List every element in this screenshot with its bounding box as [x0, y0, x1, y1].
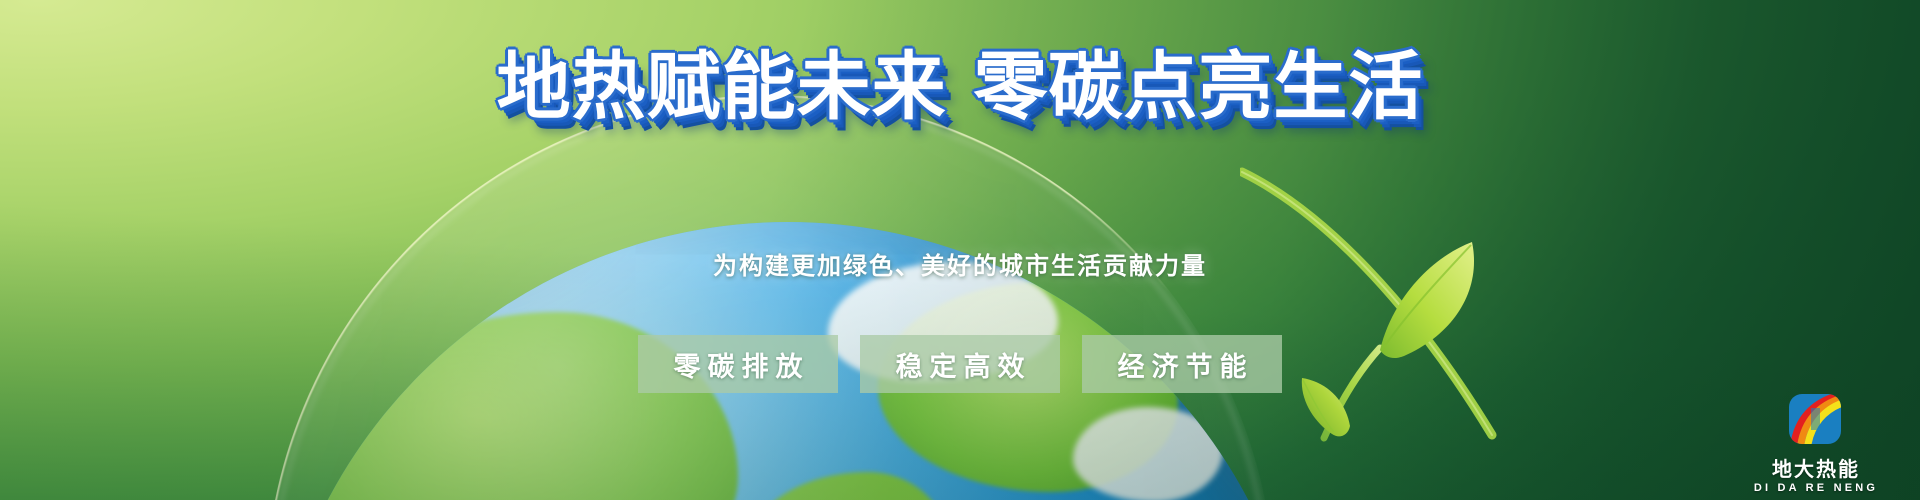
feature-tag-list: 零碳排放 稳定高效 经济节能: [0, 335, 1920, 393]
banner-content: 地热赋能未来 零碳点亮生活 为构建更加绿色、美好的城市生活贡献力量 零碳排放 稳…: [0, 0, 1920, 500]
company-logo[interactable]: 地大热能 DI DA RE NENG: [1748, 392, 1884, 494]
logo-pinyin-name: DI DA RE NENG: [1754, 482, 1878, 494]
hero-banner: 地热赋能未来 零碳点亮生活 为构建更加绿色、美好的城市生活贡献力量 零碳排放 稳…: [0, 0, 1920, 500]
feature-tag-economical[interactable]: 经济节能: [1082, 335, 1282, 393]
banner-headline: 地热赋能未来 零碳点亮生活: [0, 50, 1920, 124]
feature-tag-zero-carbon[interactable]: 零碳排放: [638, 335, 838, 393]
banner-subheadline: 为构建更加绿色、美好的城市生活贡献力量: [0, 246, 1920, 281]
feature-tag-stable-efficient[interactable]: 稳定高效: [860, 335, 1060, 393]
logo-chinese-name: 地大热能: [1772, 453, 1860, 482]
logo-mark-icon: [1785, 392, 1847, 450]
